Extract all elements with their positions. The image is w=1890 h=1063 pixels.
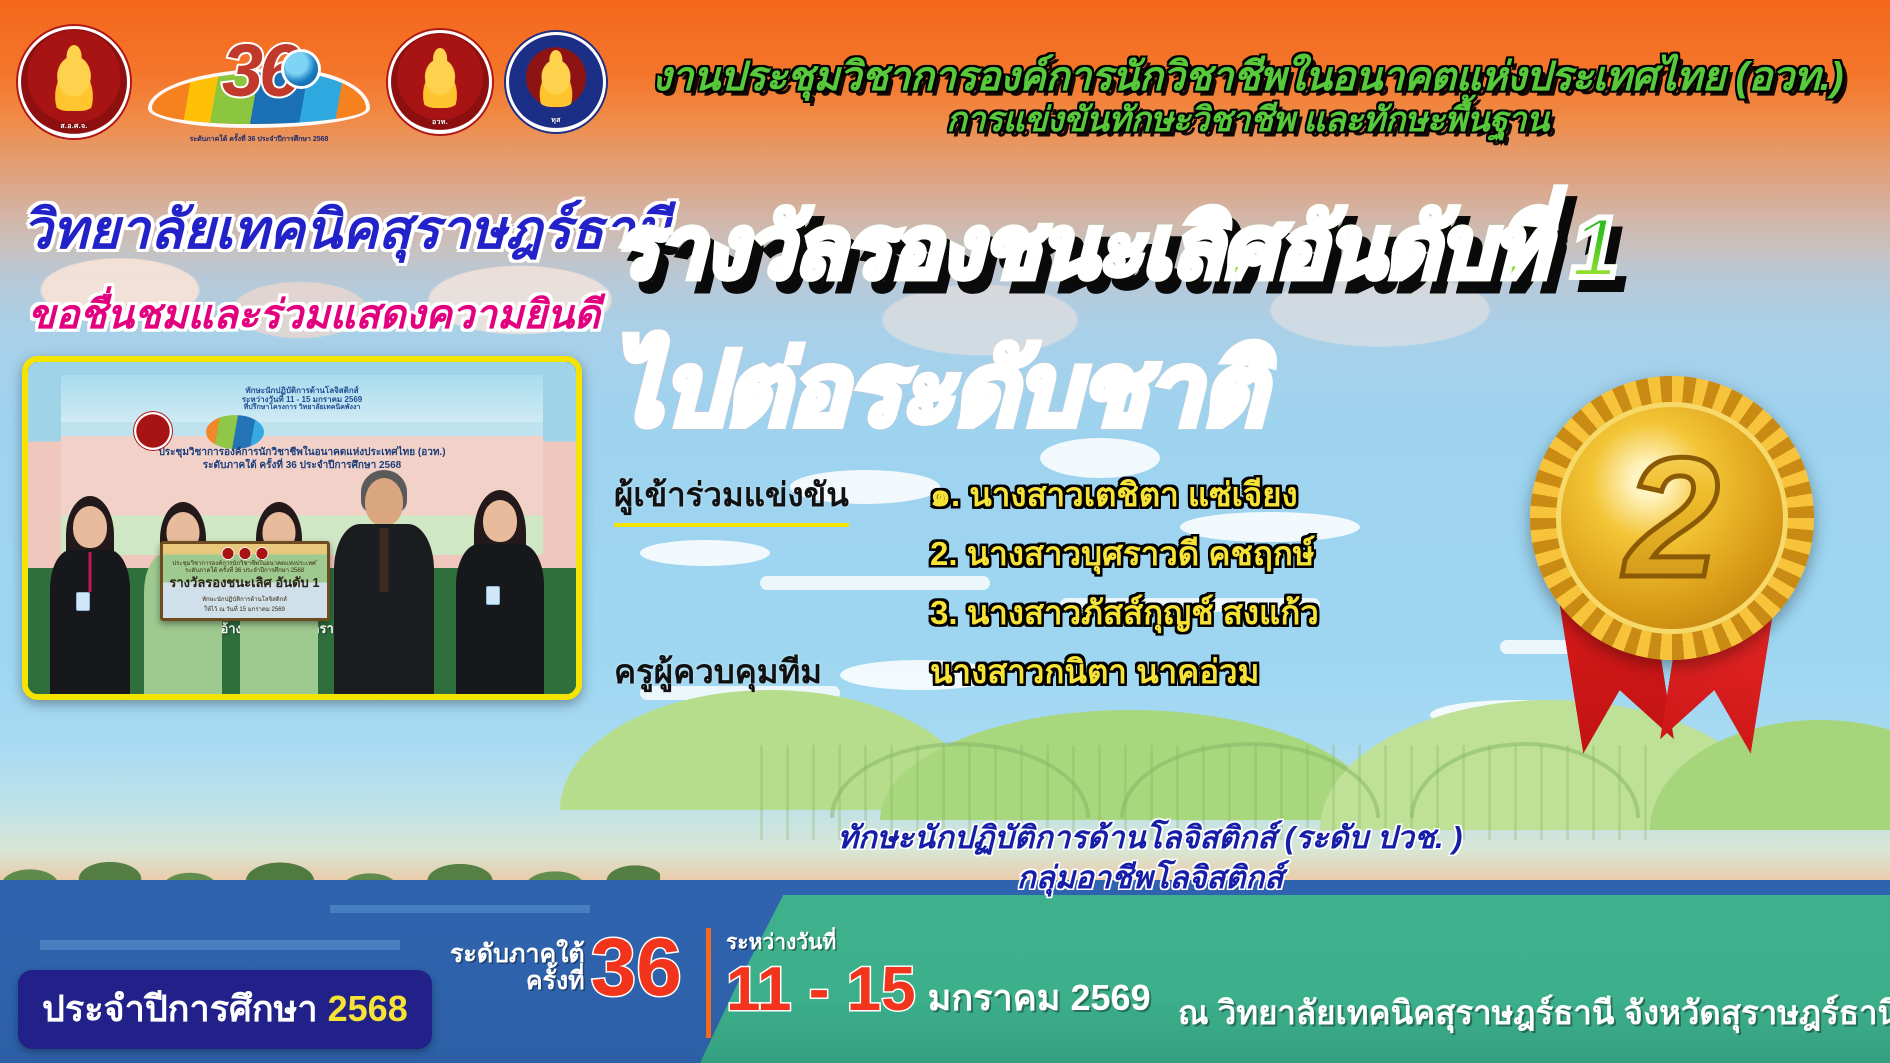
award-ribbon-badge: 2	[1508, 360, 1838, 750]
surat-vocational-education-office-seal-icon: ส.อ.ศ.จ.	[18, 26, 130, 138]
date-month-year: มกราคม 2569	[928, 969, 1151, 1026]
person-lanyard	[89, 552, 92, 592]
award-poster: ส.อ.ศ.จ. 36 ระดับภาคใต้ ครั้งที่ 36 ประจ…	[0, 0, 1890, 1063]
academic-year-value: 2568	[328, 988, 408, 1029]
participant-name-2: 2. นางสาวบุศราวดี คชฤกษ์	[930, 527, 1315, 580]
participants-label-underline	[614, 523, 849, 527]
participant-name-3: 3. นางสาวภัสส์กุญช์ สงแก้ว	[930, 586, 1319, 639]
award-subtitle: ไปต่อระดับชาติ	[612, 310, 1265, 469]
award-photo: ทักษะนักปฏิบัติการด้านโลจิสติกส์ ระหว่าง…	[22, 356, 582, 700]
certificate-footer-text: ทักษะนักปฏิบัติการด้านโลจิสติกส์	[172, 594, 316, 604]
advisor-name: นางสาวกนิตา นาคอ่วม	[930, 645, 1259, 698]
person-head	[365, 478, 403, 526]
event-date-block: ระหว่างวันที่ 11 - 15 มกราคม 2569	[726, 926, 1151, 1026]
skill-name-line2: กลุ่มอาชีพโลจิสติกส์	[700, 852, 1600, 902]
congratulations-text: ขอชื่นชมและร่วมแสดงความยินดี	[28, 282, 600, 346]
edition-number: 36	[591, 930, 682, 1005]
person-head	[73, 506, 107, 548]
seal-ring-label: ทุส	[509, 35, 603, 129]
edition-label: ครั้งที่	[526, 968, 585, 994]
seal-ring-label: อวท.	[391, 33, 489, 131]
logo-row: ส.อ.ศ.จ. 36 ระดับภาคใต้ ครั้งที่ 36 ประจ…	[18, 18, 606, 146]
logo-caption: ระดับภาคใต้ ครั้งที่ 36 ประจำปีการศึกษา …	[150, 136, 368, 144]
date-range: 11 - 15	[726, 959, 916, 1021]
college-name: วิทยาลัยเทคนิคสุราษฎร์ธานี	[22, 186, 671, 272]
person-necktie	[380, 528, 389, 592]
advisor-label: ครูผู้ควบคุมทีม	[614, 645, 822, 698]
association-of-future-thai-professionals-seal-icon: อวท.	[388, 30, 492, 134]
certificate-footer-text: ให้ไว้ ณ วันที่ 15 มกราคม 2569	[172, 604, 316, 614]
logo-globe-icon	[284, 52, 318, 86]
suratthani-technical-college-seal-icon: ทุส	[506, 32, 606, 132]
region-edition-labels: ระดับภาคใต้ ครั้งที่	[450, 941, 585, 994]
participant-name-1: ๑. นางสาวเตชิตา แซ่เจียง	[930, 468, 1298, 521]
ribbon-place-number: 2	[1530, 376, 1814, 660]
event-36-logo-icon: 36 ระดับภาคใต้ ครั้งที่ 36 ประจำปีการศึก…	[144, 18, 374, 146]
photo-banner-text: ระดับภาคใต้ ครั้งที่ 36 ประจำปีการศึกษา …	[61, 458, 543, 473]
person-head	[483, 500, 517, 542]
certificate-plaque: ประชุมวิชาการองค์การนักวิชาชีพในอนาคตแห่…	[160, 541, 330, 621]
academic-year-badge: ประจำปีการศึกษา 2568	[18, 970, 432, 1049]
seal-ring-label: ส.อ.ศ.จ.	[21, 29, 127, 135]
person-badge	[76, 592, 90, 611]
photo-banner-text: ที่ปรึกษาโครงการ วิทยาลัยเทคนิคพังงา	[61, 402, 543, 413]
person-figure	[332, 470, 436, 694]
footer-divider	[706, 928, 711, 1038]
event-title-line2: การแข่งขันทักษะวิชาชีพ และทักษะพื้นฐาน	[620, 92, 1875, 146]
person-figure	[46, 494, 134, 694]
person-figure	[452, 486, 548, 694]
region-label: ระดับภาคใต้	[450, 941, 585, 967]
person-badge	[486, 586, 500, 605]
event-venue: ณ วิทยาลัยเทคนิคสุราษฎร์ธานี จังหวัดสุรา…	[1178, 986, 1890, 1039]
region-edition-block: ระดับภาคใต้ ครั้งที่ 36	[450, 930, 682, 1005]
participants-label-text: ผู้เข้าร่วมแข่งขัน	[614, 476, 849, 513]
person-body	[456, 544, 544, 700]
participants-label: ผู้เข้าร่วมแข่งขัน	[614, 468, 849, 527]
certificate-award-title: รางวัลรองชนะเลิศ อันดับ 1	[163, 572, 327, 593]
date-line: 11 - 15 มกราคม 2569	[726, 959, 1151, 1026]
academic-year-label: ประจำปีการศึกษา	[42, 988, 318, 1029]
award-title: รางวัลรองชนะเลิศอันดับที่ 1	[612, 178, 1618, 315]
photo-banner-logo-icon	[206, 415, 264, 449]
